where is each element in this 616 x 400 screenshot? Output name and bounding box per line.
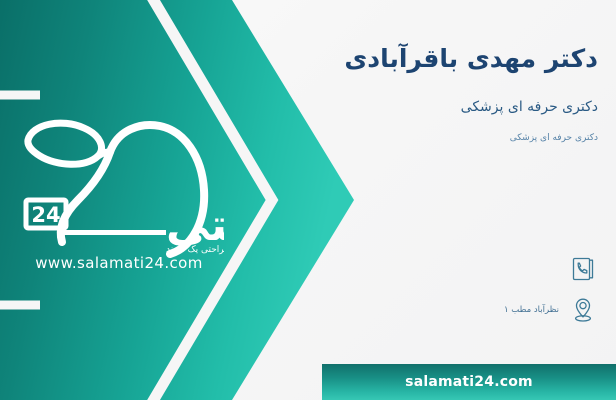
- location-label: نظرآباد مطب ۱: [504, 305, 559, 315]
- logo-wordmark: سلامتی: [166, 200, 224, 251]
- logo-24-badge: 24: [26, 200, 66, 228]
- page-title: دکتر مهدی باقرآبادی: [178, 44, 598, 74]
- doctor-specialty-secondary: دکتری حرفه ای پزشکی: [178, 133, 598, 145]
- footer-domain: salamati24.com: [405, 374, 533, 390]
- doctor-specialty: دکتری حرفه ای پزشکی: [178, 98, 598, 116]
- logo-apple-stem: [98, 152, 110, 156]
- logo-website: www.salamati24.com: [35, 254, 203, 272]
- contact-row-location[interactable]: نظرآباد مطب ۱: [504, 293, 600, 327]
- logo-leaf-icon: [28, 123, 102, 164]
- footer-bar[interactable]: salamati24.com: [322, 364, 616, 400]
- logo-24-text: 24: [31, 203, 60, 227]
- doctor-profile-card: سلامتی 24 براحتی یک لبخند www.salamati24…: [0, 0, 616, 400]
- contact-row-phone[interactable]: [559, 252, 600, 286]
- phone-book-icon[interactable]: [566, 252, 600, 286]
- map-pin-icon[interactable]: [566, 293, 600, 327]
- logo-underline: [58, 230, 166, 235]
